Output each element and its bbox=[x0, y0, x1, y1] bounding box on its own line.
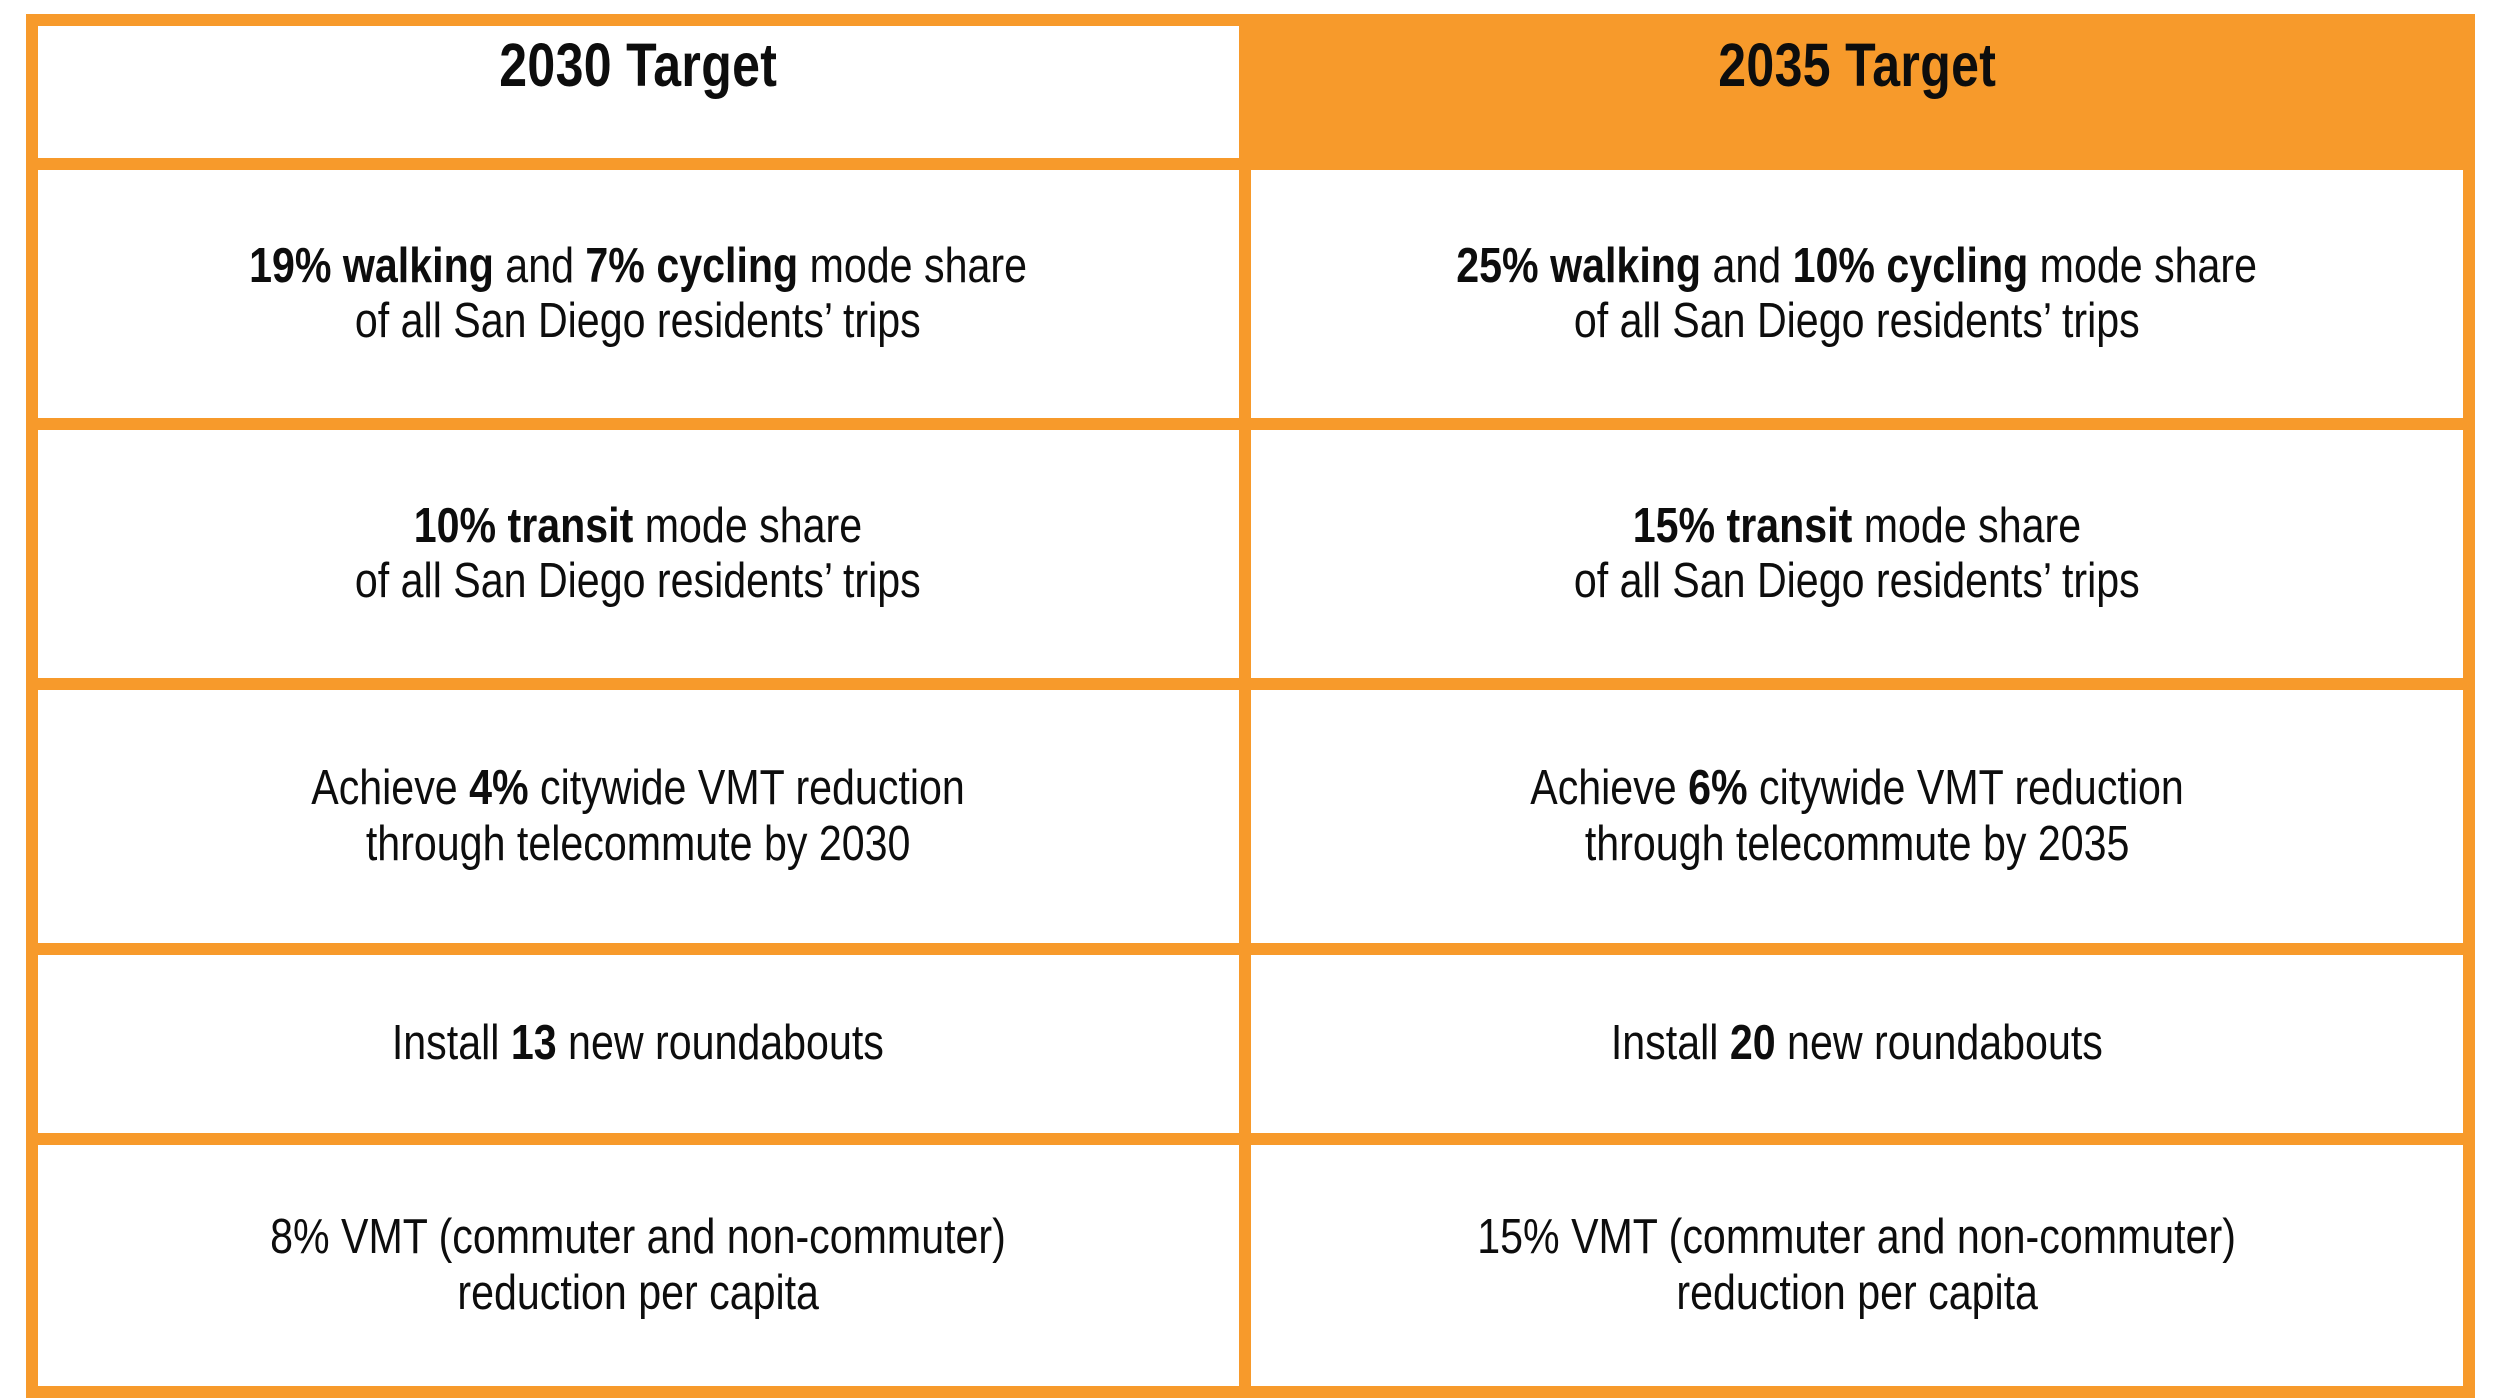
cell-line-1: Install 13 new roundabouts bbox=[392, 1016, 884, 1071]
table-body: 19% walking and 7% cycling mode share of… bbox=[26, 170, 2475, 1398]
cell-2035-vmt-per-capita: 15% VMT (commuter and non-commuter) redu… bbox=[1251, 1145, 2476, 1398]
cell-line-1: 15% transit mode share bbox=[1633, 499, 2081, 554]
cell-2030-telecommute-vmt: Achieve 4% citywide VMT reduction throug… bbox=[26, 690, 1251, 955]
column-header-2030: 2030 Target bbox=[26, 14, 1251, 170]
cell-line-2: through telecommute by 2030 bbox=[366, 817, 911, 872]
table-row: 8% VMT (commuter and non-commuter) reduc… bbox=[26, 1145, 2475, 1398]
cell-2030-vmt-per-capita: 8% VMT (commuter and non-commuter) reduc… bbox=[26, 1145, 1251, 1398]
targets-table-container: 2030 Target 2035 Target 19% walking and … bbox=[26, 14, 2475, 1266]
cell-line-2: through telecommute by 2035 bbox=[1584, 817, 2129, 872]
table-row: Install 13 new roundabouts Install 20 ne… bbox=[26, 955, 2475, 1145]
targets-comparison-table: 2030 Target 2035 Target 19% walking and … bbox=[26, 14, 2475, 1398]
cell-line-1: Achieve 6% citywide VMT reduction bbox=[1530, 761, 2184, 816]
cell-2035-telecommute-vmt: Achieve 6% citywide VMT reduction throug… bbox=[1251, 690, 2476, 955]
cell-line-1: 15% VMT (commuter and non-commuter) bbox=[1477, 1210, 2236, 1265]
table-row: 10% transit mode share of all San Diego … bbox=[26, 430, 2475, 690]
column-header-2035-label: 2035 Target bbox=[1383, 30, 2331, 154]
cell-line-1: Achieve 4% citywide VMT reduction bbox=[311, 761, 965, 816]
table-row: Achieve 4% citywide VMT reduction throug… bbox=[26, 690, 2475, 955]
header-row: 2030 Target 2035 Target bbox=[26, 14, 2475, 170]
cell-2030-walking-cycling: 19% walking and 7% cycling mode share of… bbox=[26, 170, 1251, 430]
cell-line-2: of all San Diego residents’ trips bbox=[1574, 554, 2140, 609]
cell-line-2: reduction per capita bbox=[457, 1266, 819, 1321]
cell-2035-roundabouts: Install 20 new roundabouts bbox=[1251, 955, 2476, 1145]
cell-line-1: 19% walking and 7% cycling mode share bbox=[249, 239, 1027, 294]
cell-line-2: of all San Diego residents’ trips bbox=[1574, 294, 2140, 349]
table-header: 2030 Target 2035 Target bbox=[26, 14, 2475, 170]
cell-2035-transit: 15% transit mode share of all San Diego … bbox=[1251, 430, 2476, 690]
cell-line-1: Install 20 new roundabouts bbox=[1611, 1016, 2103, 1071]
cell-line-1: 25% walking and 10% cycling mode share bbox=[1456, 239, 2257, 294]
cell-line-1: 10% transit mode share bbox=[414, 499, 862, 554]
table-row: 19% walking and 7% cycling mode share of… bbox=[26, 170, 2475, 430]
cell-line-2: of all San Diego residents’ trips bbox=[355, 554, 921, 609]
cell-line-1: 8% VMT (commuter and non-commuter) bbox=[270, 1210, 1006, 1265]
cell-2035-walking-cycling: 25% walking and 10% cycling mode share o… bbox=[1251, 170, 2476, 430]
cell-2030-roundabouts: Install 13 new roundabouts bbox=[26, 955, 1251, 1145]
column-header-2035: 2035 Target bbox=[1251, 14, 2476, 170]
cell-line-2: of all San Diego residents’ trips bbox=[355, 294, 921, 349]
cell-2030-transit: 10% transit mode share of all San Diego … bbox=[26, 430, 1251, 690]
column-header-2030-label: 2030 Target bbox=[169, 30, 1107, 154]
cell-line-2: reduction per capita bbox=[1676, 1266, 2038, 1321]
